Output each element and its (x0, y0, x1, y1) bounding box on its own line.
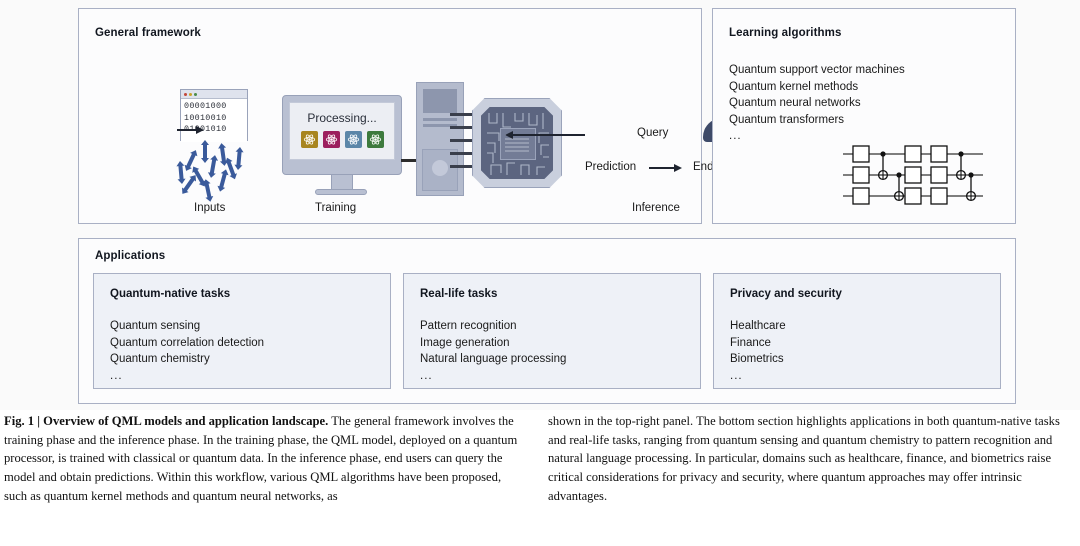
list-item: Quantum correlation detection (110, 335, 264, 352)
list-item: Quantum sensing (110, 318, 264, 335)
panel-title-applications: Applications (95, 250, 165, 262)
window-titlebar (181, 90, 247, 99)
yellow-dot-icon (189, 93, 192, 96)
subpanel-list: Pattern recognition Image generation Nat… (420, 318, 566, 384)
caption-right-text: shown in the top-right panel. The bottom… (548, 414, 1060, 503)
spin-arrow-icon (203, 144, 207, 159)
spin-arrow-icon (219, 173, 227, 189)
list-item: Pattern recognition (420, 318, 566, 335)
power-button-icon (432, 160, 448, 176)
caption-figure-number: Fig. 1 (4, 414, 34, 428)
monitor-screen-text: Processing... (290, 111, 394, 125)
list-item: Image generation (420, 335, 566, 352)
chip-pin (450, 152, 472, 155)
figure-caption: Fig. 1 | Overview of QML models and appl… (0, 412, 1080, 546)
subpanel-privacy-and-security: Privacy and security Healthcare Finance … (713, 273, 1001, 389)
chip-pin (450, 113, 472, 116)
caption-title: Overview of QML models and application l… (43, 414, 328, 428)
label-prediction: Prediction (585, 161, 636, 173)
arrow-inputs-to-training (177, 129, 197, 131)
binary-line: 00001000 (184, 101, 247, 113)
atom-icon-row (290, 131, 394, 148)
green-dot-icon (194, 93, 197, 96)
atom-icon (345, 131, 362, 148)
subpanel-title: Privacy and security (730, 288, 842, 300)
tower-slot (423, 118, 457, 121)
quantum-processor-chip (472, 98, 562, 188)
panel-applications: Applications Quantum-native tasks Quantu… (78, 238, 1016, 404)
tower-front-panel (422, 149, 458, 191)
spin-arrows-cloud (177, 143, 253, 199)
list-item: Natural language processing (420, 351, 566, 368)
arrow-query (513, 134, 585, 136)
subpanel-real-life-tasks: Real-life tasks Pattern recognition Imag… (403, 273, 701, 389)
label-inputs: Inputs (194, 202, 225, 214)
subpanel-list: Quantum sensing Quantum correlation dete… (110, 318, 264, 384)
spin-arrow-icon (210, 159, 217, 174)
subpanel-quantum-native-tasks: Quantum-native tasks Quantum sensing Qua… (93, 273, 391, 389)
list-item: Healthcare (730, 318, 786, 335)
subpanel-title: Quantum-native tasks (110, 288, 230, 300)
caption-separator: | (34, 414, 43, 428)
quantum-circuit-diagram (843, 144, 983, 211)
chip-pin (450, 139, 472, 142)
caption-column-left: Fig. 1 | Overview of QML models and appl… (4, 412, 526, 546)
monitor-screen: Processing... (289, 102, 395, 160)
binary-data-window: 00001000 10010010 01001010 (180, 89, 248, 141)
subpanel-title: Real-life tasks (420, 288, 497, 300)
figure-canvas: General framework 00001000 10010010 0100… (0, 0, 1080, 410)
chip-pin (450, 165, 472, 168)
label-training: Training (315, 202, 356, 214)
list-item: Quantum kernel methods (729, 79, 905, 96)
atom-icon (323, 131, 340, 148)
arrow-prediction (649, 167, 675, 169)
spin-arrow-icon (204, 183, 211, 199)
cable-monitor-to-tower (401, 159, 417, 162)
spin-arrow-icon (236, 151, 241, 166)
caption-column-right: shown in the top-right panel. The bottom… (548, 412, 1070, 546)
list-item-ellipsis: ... (729, 128, 905, 145)
atom-icon (367, 131, 384, 148)
list-item: Biometrics (730, 351, 786, 368)
list-item: Quantum neural networks (729, 95, 905, 112)
list-item-ellipsis: ... (110, 368, 264, 385)
panel-learning-algorithms: Learning algorithms Quantum support vect… (712, 8, 1016, 224)
list-item: Quantum support vector machines (729, 62, 905, 79)
binary-data-lines: 00001000 10010010 01001010 (181, 99, 247, 142)
chip-pin (450, 126, 472, 129)
learning-algorithms-list: Quantum support vector machines Quantum … (729, 62, 905, 145)
binary-line: 10010010 (184, 113, 247, 125)
subpanel-list: Healthcare Finance Biometrics ... (730, 318, 786, 384)
panel-title-learning-algorithms: Learning algorithms (729, 27, 841, 39)
tower-top-bay (423, 89, 457, 113)
label-query: Query (637, 127, 668, 139)
panel-general-framework: General framework 00001000 10010010 0100… (78, 8, 702, 224)
red-dot-icon (184, 93, 187, 96)
list-item: Quantum transformers (729, 112, 905, 129)
list-item: Finance (730, 335, 786, 352)
list-item-ellipsis: ... (730, 368, 786, 385)
monitor-stand-base (315, 189, 367, 195)
list-item-ellipsis: ... (420, 368, 566, 385)
atom-icon (301, 131, 318, 148)
training-monitor: Processing... (282, 95, 402, 175)
panel-title-general-framework: General framework (95, 27, 201, 39)
list-item: Quantum chemistry (110, 351, 264, 368)
label-inference: Inference (632, 202, 680, 214)
